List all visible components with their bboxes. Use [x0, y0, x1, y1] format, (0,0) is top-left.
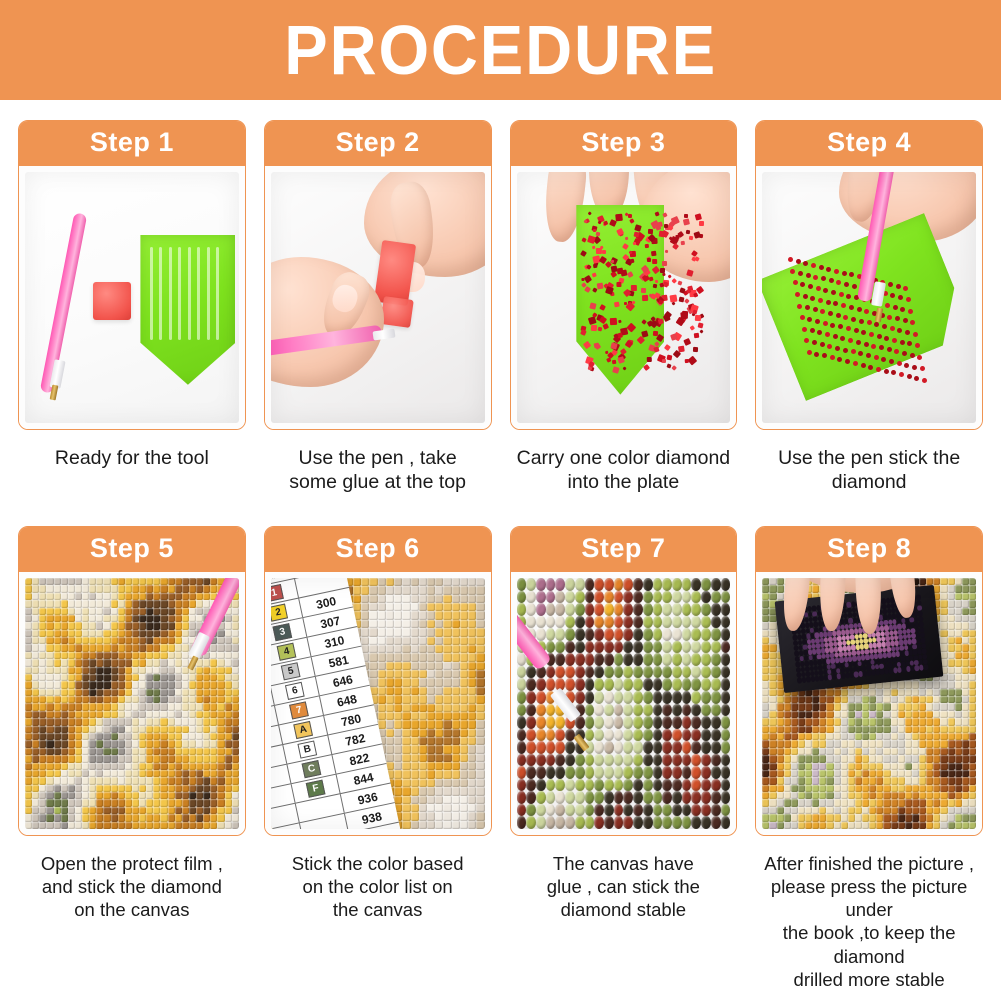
step-cell-6: Step 6 Serial Symbol DMC 1 1 2 2 [264, 526, 492, 991]
step-header-2: Step 2 [265, 121, 491, 166]
step-cell-8: Step 8 [755, 526, 983, 991]
step-cell-7: Step 7 The canvas have glue , can stick … [510, 526, 738, 991]
step-image-8 [756, 572, 982, 835]
scene-pen-pickup [762, 172, 976, 423]
step-card-4[interactable]: Step 4 [755, 120, 983, 430]
scene-color-chart: Serial Symbol DMC 1 1 2 2 300 3 3 307 4 … [271, 578, 485, 829]
step-image-4 [756, 166, 982, 429]
step-header-7: Step 7 [511, 527, 737, 572]
step-caption-4: Use the pen stick the diamond [755, 430, 983, 526]
step-cell-5: Step 5 Open the protect film , and stick… [18, 526, 246, 991]
scene-press-book [762, 578, 976, 829]
step-header-1: Step 1 [19, 121, 245, 166]
scene-round-drills [517, 578, 731, 829]
step-caption-5: Open the protect film , and stick the di… [18, 836, 246, 932]
step-caption-2: Use the pen , take some glue at the top [264, 430, 492, 526]
step-image-2 [265, 166, 491, 429]
step-image-7 [511, 572, 737, 835]
step-header-4: Step 4 [756, 121, 982, 166]
step-card-5[interactable]: Step 5 [18, 526, 246, 836]
steps-grid: Step 1 [0, 100, 1001, 991]
step-card-7[interactable]: Step 7 [510, 526, 738, 836]
procedure-infographic: PROCEDURE Step 1 [0, 0, 1001, 1001]
step-header-3: Step 3 [511, 121, 737, 166]
step-card-6[interactable]: Step 6 Serial Symbol DMC 1 1 2 2 [264, 526, 492, 836]
step-caption-6: Stick the color based on the color list … [264, 836, 492, 932]
step-header-6: Step 6 [265, 527, 491, 572]
step-cell-4: Step 4 [755, 120, 983, 526]
step-cell-3: Step 3 [510, 120, 738, 526]
step-caption-8: After finished the picture , please pres… [755, 836, 983, 991]
step-header-8: Step 8 [756, 527, 982, 572]
scene-sunflower-canvas [25, 578, 239, 829]
scene-dip-glue [271, 172, 485, 423]
step-header-5: Step 5 [19, 527, 245, 572]
page-title: PROCEDURE [284, 15, 717, 85]
step-caption-3: Carry one color diamond into the plate [510, 430, 738, 526]
scene-tools [25, 172, 239, 423]
step-image-5 [19, 572, 245, 835]
step-card-3[interactable]: Step 3 [510, 120, 738, 430]
step-image-6: Serial Symbol DMC 1 1 2 2 300 3 3 307 4 … [265, 572, 491, 835]
round-drill-canvas [517, 578, 731, 829]
step-cell-1: Step 1 [18, 120, 246, 526]
scene-tray-diamonds [517, 172, 731, 423]
step-cell-2: Step 2 [264, 120, 492, 526]
step-image-1 [19, 166, 245, 429]
step-card-8[interactable]: Step 8 [755, 526, 983, 836]
step-caption-7: The canvas have glue , can stick the dia… [510, 836, 738, 932]
step-caption-1: Ready for the tool [18, 430, 246, 526]
page-banner: PROCEDURE [0, 0, 1001, 100]
step-image-3 [511, 166, 737, 429]
step-card-2[interactable]: Step 2 [264, 120, 492, 430]
step-card-1[interactable]: Step 1 [18, 120, 246, 430]
